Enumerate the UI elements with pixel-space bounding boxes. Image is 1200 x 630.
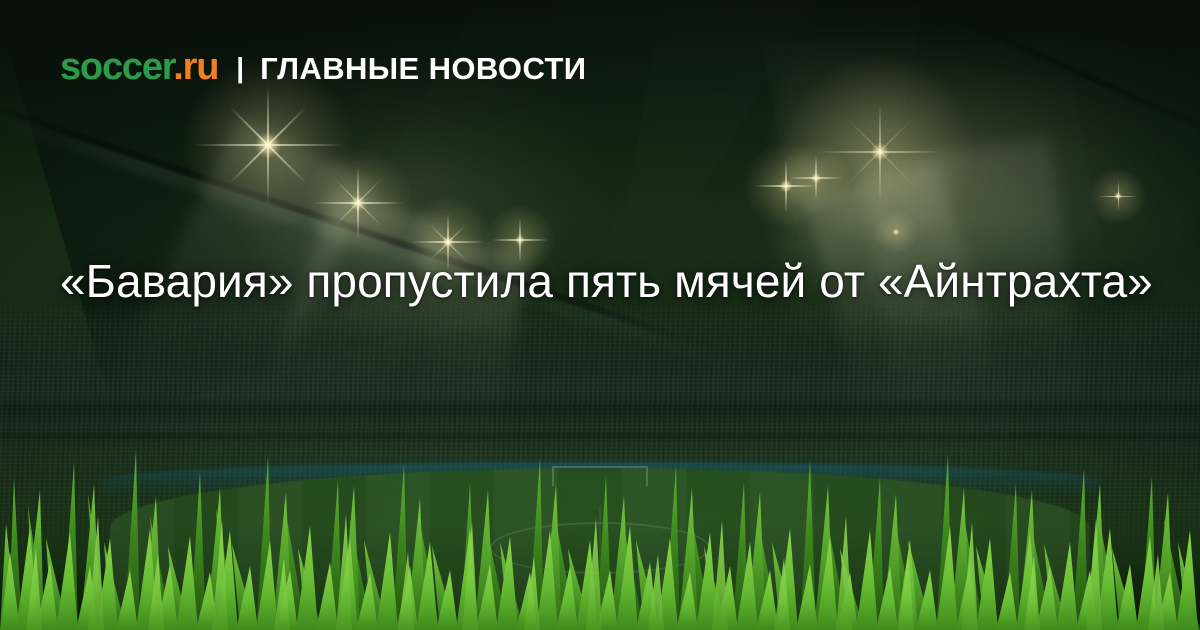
header-separator: |	[236, 54, 244, 82]
grass-blades-svg	[0, 420, 1200, 630]
soccer-ru-logo[interactable]: soccer.ru	[60, 48, 218, 86]
site-header: soccer.ru | ГЛАВНЫЕ НОВОСТИ	[60, 48, 586, 86]
news-share-card: soccer.ru | ГЛАВНЫЕ НОВОСТИ «Бавария» пр…	[0, 0, 1200, 630]
header-kicker: ГЛАВНЫЕ НОВОСТИ	[260, 53, 586, 84]
foreground-grass	[0, 420, 1200, 630]
logo-tld-text: .ru	[173, 46, 218, 88]
page-title: «Бавария» пропустила пять мячей от «Айнт…	[60, 252, 1160, 310]
logo-name-text: soccer	[60, 46, 173, 88]
